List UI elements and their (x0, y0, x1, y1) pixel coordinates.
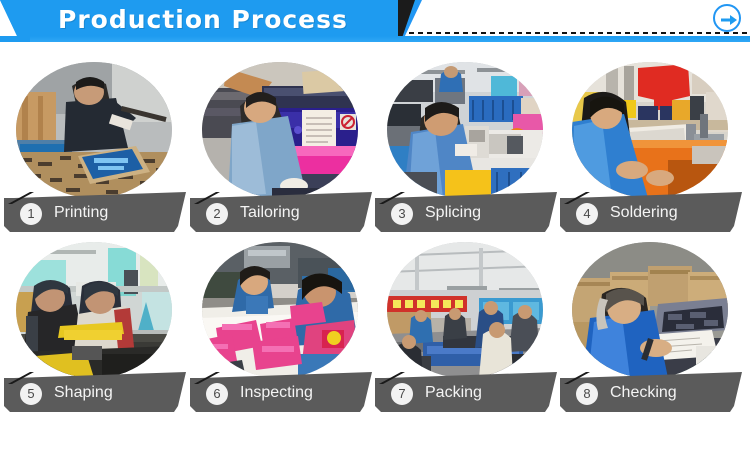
step-label: Checking (610, 382, 677, 404)
header-underline-bar-left (0, 36, 30, 42)
step-banner: 8 Checking (560, 372, 742, 412)
step-banner: 6 Inspecting (190, 372, 372, 412)
step-photo-printing (16, 62, 172, 198)
step-label: Printing (54, 202, 108, 224)
step-label: Shaping (54, 382, 113, 404)
process-row-1: 1 Printing (0, 52, 750, 232)
step-banner: 7 Packing (375, 372, 557, 412)
process-step-7[interactable]: 7 Packing (371, 232, 559, 412)
step-banner: 5 Shaping (4, 372, 186, 412)
process-grid: 1 Printing (0, 46, 750, 460)
step-photo-tailoring (202, 62, 358, 198)
process-step-1[interactable]: 1 Printing (0, 52, 188, 232)
step-photo-splicing (387, 62, 543, 198)
step-number: 4 (576, 203, 598, 225)
step-photo-shaping (16, 242, 172, 378)
next-button[interactable] (713, 4, 741, 32)
step-photo-checking (572, 242, 728, 378)
step-banner: 3 Splicing (375, 192, 557, 232)
step-label: Soldering (610, 202, 678, 224)
process-step-3[interactable]: 3 Splicing (371, 52, 559, 232)
step-number: 7 (391, 383, 413, 405)
step-banner: 2 Tailoring (190, 192, 372, 232)
step-number: 2 (206, 203, 228, 225)
step-label: Inspecting (240, 382, 313, 404)
process-step-5[interactable]: 5 Shaping (0, 232, 188, 412)
step-photo-packing (387, 242, 543, 378)
step-banner: 4 Soldering (560, 192, 742, 232)
process-step-6[interactable]: 6 Inspecting (186, 232, 374, 412)
process-step-8[interactable]: 8 Checking (556, 232, 744, 412)
step-label: Packing (425, 382, 482, 404)
step-number: 6 (206, 383, 228, 405)
process-step-4[interactable]: 4 Soldering (556, 52, 744, 232)
step-label: Splicing (425, 202, 481, 224)
step-banner: 1 Printing (4, 192, 186, 232)
step-number: 3 (391, 203, 413, 225)
header-dashed-rule (409, 32, 750, 34)
process-row-2: 5 Shaping (0, 232, 750, 412)
step-number: 5 (20, 383, 42, 405)
step-label: Tailoring (240, 202, 300, 224)
step-photo-soldering (572, 62, 728, 198)
page-title: Production Process (58, 5, 348, 34)
process-step-2[interactable]: 2 Tailoring (186, 52, 374, 232)
step-number: 8 (576, 383, 598, 405)
step-photo-inspecting (202, 242, 358, 378)
header-underline-bar (0, 36, 750, 42)
step-number: 1 (20, 203, 42, 225)
page-header: Production Process (0, 0, 750, 46)
